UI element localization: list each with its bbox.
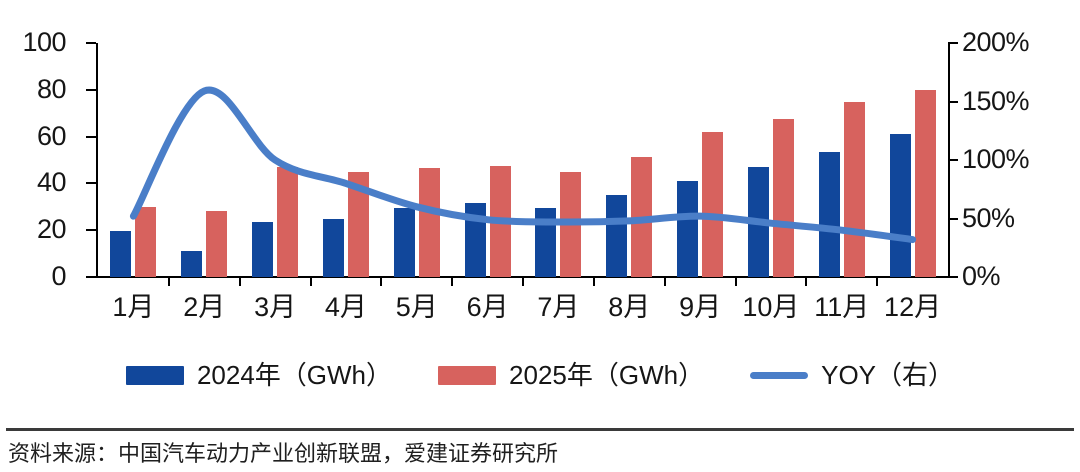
x-tick-label: 11月: [814, 292, 869, 322]
right-tick-label: 150%: [962, 88, 1029, 115]
x-tick-mark: [310, 278, 312, 286]
right-tick-label: 200%: [962, 29, 1029, 56]
x-tick-mark: [735, 278, 737, 286]
x-tick-mark: [522, 278, 524, 286]
x-tick-mark: [593, 278, 595, 286]
x-tick-label: 1月: [112, 292, 154, 322]
x-tick-label: 5月: [396, 292, 438, 322]
left-tick-label: 20: [37, 216, 66, 243]
left-tick-label: 80: [37, 76, 66, 103]
left-tick-mark: [86, 42, 96, 44]
x-tick-label: 2月: [183, 292, 225, 322]
x-tick-mark: [664, 278, 666, 286]
x-tick-mark: [239, 278, 241, 286]
chart-page: 020406080100 0%50%100%150%200% 1月2月3月4月5…: [0, 0, 1080, 472]
left-tick-label: 0: [51, 263, 66, 290]
x-tick-label: 6月: [467, 292, 509, 322]
legend-swatch-2025: [438, 366, 496, 385]
chart-legend: 2024年（GWh） 2025年（GWh） YOY（右）: [0, 352, 1080, 398]
legend-label-2025: 2025年（GWh）: [509, 361, 704, 389]
x-tick-mark: [805, 278, 807, 286]
left-tick-label: 60: [37, 123, 66, 150]
x-tick-label: 9月: [679, 292, 721, 322]
footer-divider: [6, 428, 1074, 431]
right-tick-mark: [948, 159, 958, 161]
x-tick-label: 10月: [742, 292, 799, 322]
plot-region: [98, 43, 948, 277]
x-tick-label: 8月: [608, 292, 650, 322]
source-note: 资料来源：中国汽车动力产业创新联盟，爱建证券研究所: [8, 440, 1068, 468]
right-tick-mark: [948, 101, 958, 103]
legend-item-2024[interactable]: 2024年（GWh）: [126, 361, 392, 389]
left-tick-mark: [86, 276, 96, 278]
yoy-line-path: [133, 90, 912, 240]
right-tick-mark: [948, 218, 958, 220]
x-tick-label: 3月: [254, 292, 296, 322]
right-tick-mark: [948, 276, 958, 278]
x-tick-mark: [168, 278, 170, 286]
left-tick-label: 100: [22, 29, 66, 56]
legend-swatch-2024: [126, 366, 184, 385]
right-tick-mark: [948, 42, 958, 44]
legend-item-yoy[interactable]: YOY（右）: [750, 361, 954, 389]
x-tick-label: 12月: [884, 292, 941, 322]
x-tick-label: 7月: [537, 292, 579, 322]
left-tick-mark: [86, 182, 96, 184]
x-tick-mark: [451, 278, 453, 286]
legend-swatch-yoy: [750, 372, 808, 379]
x-tick-label: 4月: [325, 292, 367, 322]
left-tick-mark: [86, 89, 96, 91]
legend-label-2024: 2024年（GWh）: [197, 361, 392, 389]
legend-item-2025[interactable]: 2025年（GWh）: [438, 361, 704, 389]
x-tick-mark: [380, 278, 382, 286]
x-tick-mark: [876, 278, 878, 286]
right-tick-label: 50%: [962, 205, 1015, 232]
yoy-line-layer: [98, 43, 948, 277]
left-tick-label: 40: [37, 169, 66, 196]
right-tick-label: 100%: [962, 146, 1029, 173]
left-tick-mark: [86, 229, 96, 231]
left-tick-mark: [86, 136, 96, 138]
legend-label-yoy: YOY（右）: [821, 361, 954, 389]
chart-canvas: 020406080100 0%50%100%150%200% 1月2月3月4月5…: [0, 0, 1080, 340]
right-tick-label: 0%: [962, 263, 1000, 290]
